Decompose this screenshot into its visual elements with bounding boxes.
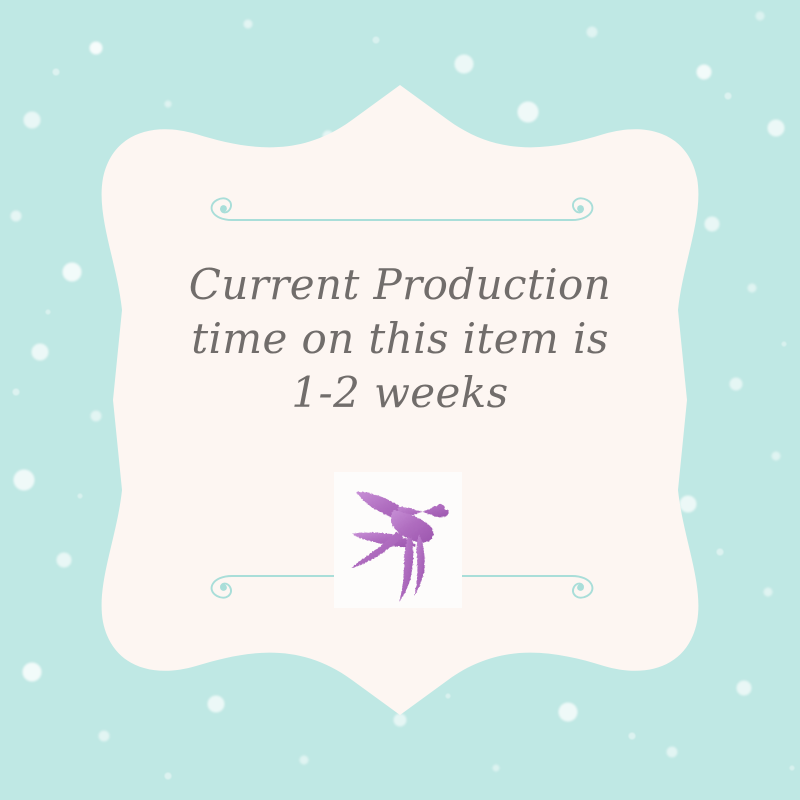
- headline-line-1: Current Production: [100, 258, 700, 312]
- scroll-divider-icon: [196, 190, 608, 238]
- divider-top: [196, 190, 608, 238]
- panel-content: Current Production time on this item is …: [0, 0, 800, 800]
- page-title: Current Production time on this item is …: [100, 258, 700, 419]
- headline-line-2: time on this item is: [100, 312, 700, 366]
- poster-canvas: Current Production time on this item is …: [0, 0, 800, 800]
- headline-line-3: 1-2 weeks: [100, 366, 700, 420]
- swallow-bird-icon: [334, 472, 462, 608]
- bird-image-tile: [334, 472, 462, 608]
